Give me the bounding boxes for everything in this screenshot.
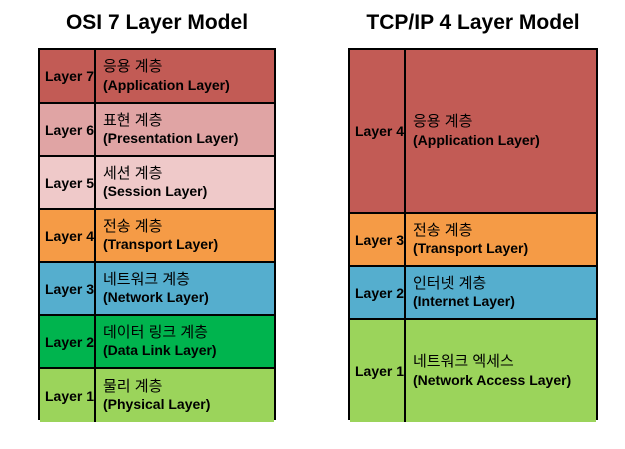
layer-name-korean: 네트워크 계층 xyxy=(103,271,274,289)
layer-name-block: 응용 계층(Application Layer) xyxy=(96,50,274,102)
layer-name-korean: 세션 계층 xyxy=(103,165,274,183)
layer-name-english: (Presentation Layer) xyxy=(103,130,274,147)
layer-name-korean: 전송 계층 xyxy=(413,222,596,240)
osi-layer-row: Layer 7응용 계층(Application Layer) xyxy=(40,50,274,104)
layer-name-block: 세션 계층(Session Layer) xyxy=(96,157,274,208)
layer-name-english: (Transport Layer) xyxy=(103,236,274,253)
layer-name-english: (Session Layer) xyxy=(103,183,274,200)
layer-number-label: Layer 1 xyxy=(40,369,96,422)
layer-name-english: (Transport Layer) xyxy=(413,240,596,257)
layer-name-korean: 데이터 링크 계층 xyxy=(103,324,274,342)
layer-name-block: 표현 계층(Presentation Layer) xyxy=(96,104,274,155)
layer-name-block: 전송 계층(Transport Layer) xyxy=(406,214,596,265)
layer-name-english: (Application Layer) xyxy=(103,77,274,94)
osi-layer-row: Layer 3네트워크 계층(Network Layer) xyxy=(40,263,274,316)
osi-layer-row: Layer 1물리 계층(Physical Layer) xyxy=(40,369,274,422)
tcpip-model-title: TCP/IP 4 Layer Model xyxy=(348,11,598,35)
layer-name-block: 응용 계층(Application Layer) xyxy=(406,50,596,212)
layer-number-label: Layer 3 xyxy=(40,263,96,314)
layer-number-label: Layer 2 xyxy=(350,267,406,318)
layer-number-label: Layer 7 xyxy=(40,50,96,102)
layer-name-english: (Data Link Layer) xyxy=(103,342,274,359)
layer-name-english: (Application Layer) xyxy=(413,132,596,149)
tcpip-layer-row: Layer 2인터넷 계층(Internet Layer) xyxy=(350,267,596,320)
diagram-canvas: OSI 7 Layer Model Layer 7응용 계층(Applicati… xyxy=(0,0,625,449)
layer-name-korean: 응용 계층 xyxy=(413,113,596,131)
layer-name-korean: 전송 계층 xyxy=(103,218,274,236)
layer-name-korean: 물리 계층 xyxy=(103,378,274,396)
layer-name-block: 네트워크 엑세스(Network Access Layer) xyxy=(406,320,596,422)
layer-name-english: (Network Layer) xyxy=(103,289,274,306)
layer-number-label: Layer 6 xyxy=(40,104,96,155)
layer-number-label: Layer 3 xyxy=(350,214,406,265)
layer-name-english: (Network Access Layer) xyxy=(413,372,596,389)
layer-number-label: Layer 2 xyxy=(40,316,96,367)
layer-name-block: 데이터 링크 계층(Data Link Layer) xyxy=(96,316,274,367)
layer-number-label: Layer 4 xyxy=(40,210,96,261)
osi-model-title: OSI 7 Layer Model xyxy=(38,11,276,35)
osi-layer-stack: Layer 7응용 계층(Application Layer)Layer 6표현… xyxy=(38,48,276,420)
layer-name-block: 물리 계층(Physical Layer) xyxy=(96,369,274,422)
layer-name-english: (Physical Layer) xyxy=(103,396,274,413)
osi-layer-row: Layer 5세션 계층(Session Layer) xyxy=(40,157,274,210)
osi-layer-row: Layer 6표현 계층(Presentation Layer) xyxy=(40,104,274,157)
layer-name-block: 전송 계층(Transport Layer) xyxy=(96,210,274,261)
tcpip-layer-row: Layer 3전송 계층(Transport Layer) xyxy=(350,214,596,267)
tcpip-layer-stack: Layer 4응용 계층(Application Layer)Layer 3전송… xyxy=(348,48,598,420)
layer-number-label: Layer 5 xyxy=(40,157,96,208)
tcpip-layer-row: Layer 1네트워크 엑세스(Network Access Layer) xyxy=(350,320,596,422)
layer-name-korean: 인터넷 계층 xyxy=(413,275,596,293)
layer-number-label: Layer 1 xyxy=(350,320,406,422)
layer-name-block: 인터넷 계층(Internet Layer) xyxy=(406,267,596,318)
osi-layer-row: Layer 4전송 계층(Transport Layer) xyxy=(40,210,274,263)
layer-name-korean: 네트워크 엑세스 xyxy=(413,353,596,371)
layer-name-english: (Internet Layer) xyxy=(413,293,596,310)
osi-layer-row: Layer 2데이터 링크 계층(Data Link Layer) xyxy=(40,316,274,369)
tcpip-layer-row: Layer 4응용 계층(Application Layer) xyxy=(350,50,596,214)
layer-name-block: 네트워크 계층(Network Layer) xyxy=(96,263,274,314)
layer-number-label: Layer 4 xyxy=(350,50,406,212)
layer-name-korean: 표현 계층 xyxy=(103,112,274,130)
layer-name-korean: 응용 계층 xyxy=(103,58,274,76)
